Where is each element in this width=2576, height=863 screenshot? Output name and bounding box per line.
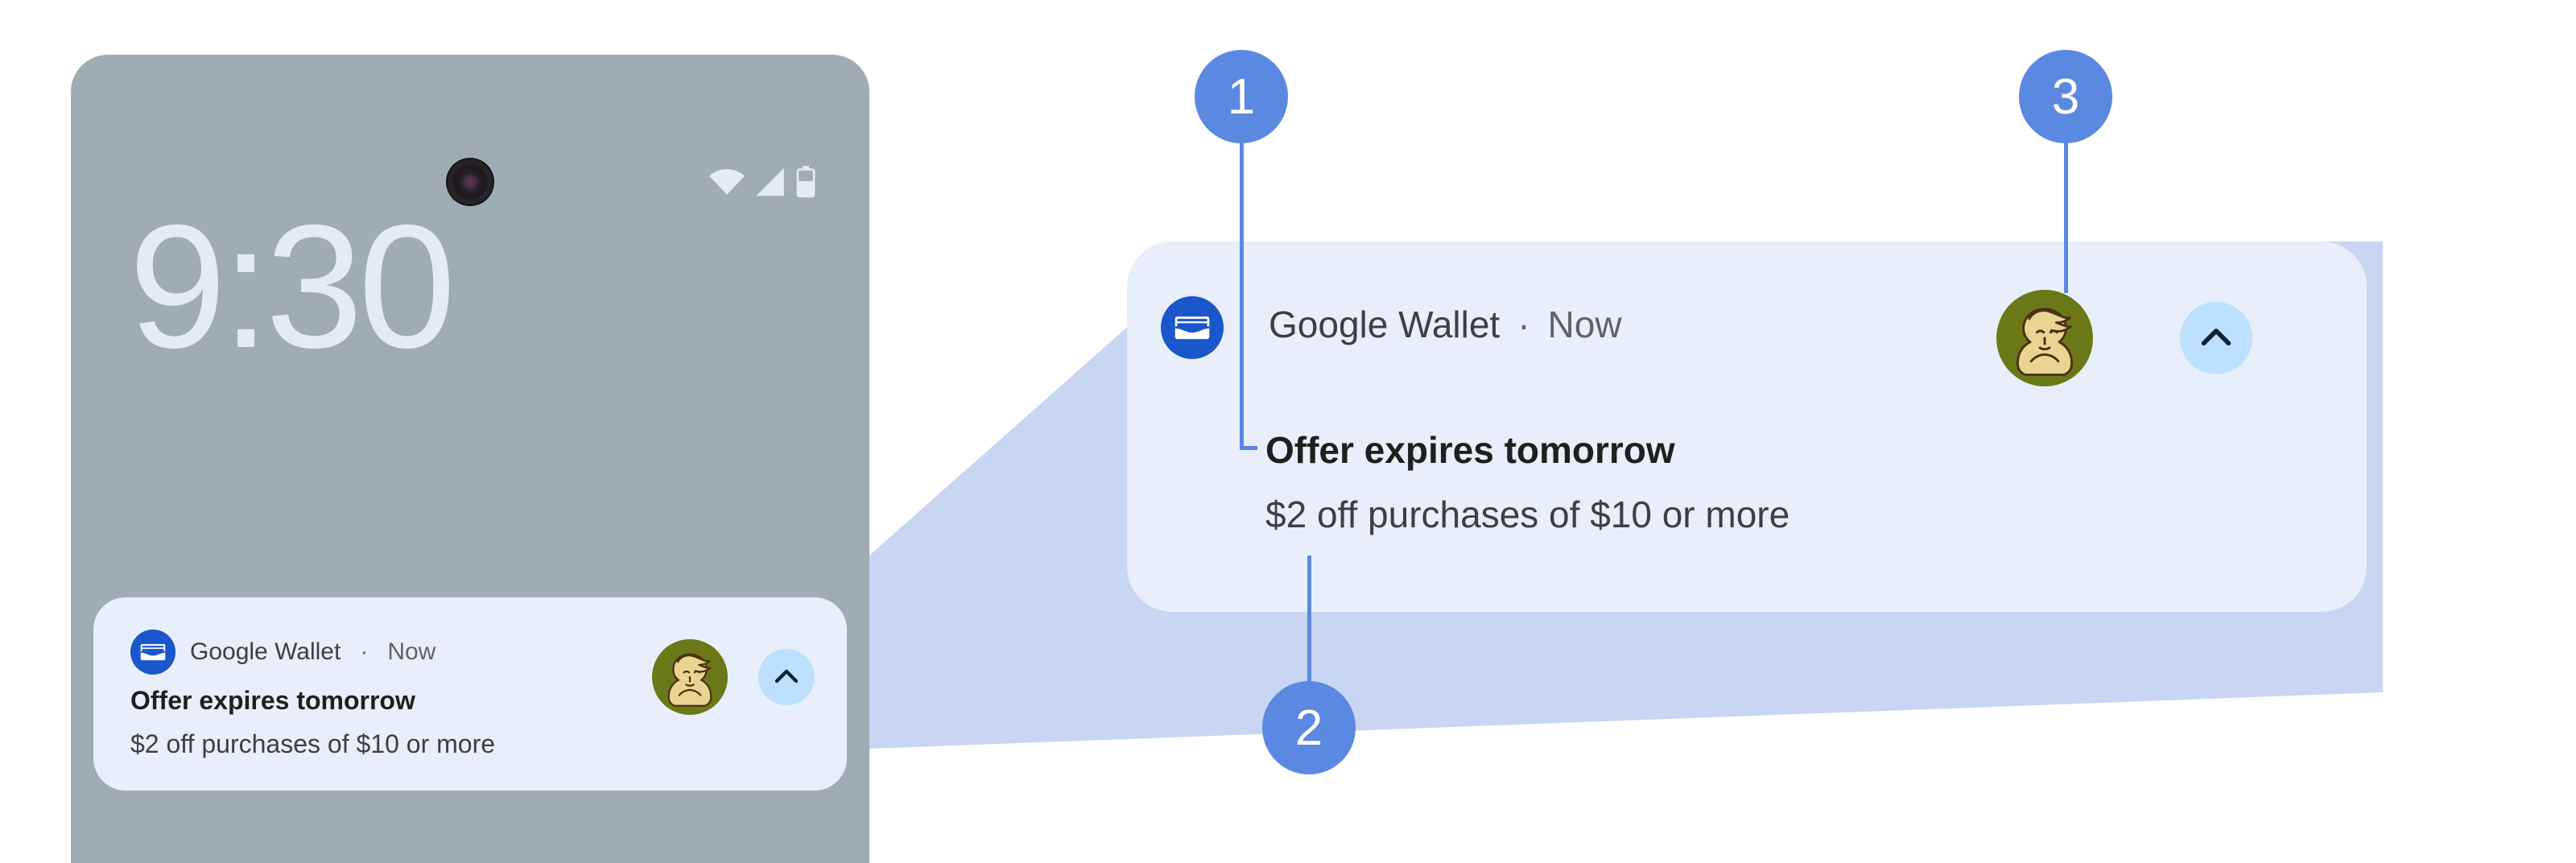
notification-header: Google Wallet · Now xyxy=(1269,303,1622,346)
notification-title: Offer expires tomorrow xyxy=(1265,428,1675,472)
screenshot-canvas: 9:30 Google Wallet · Now Offer expires t… xyxy=(0,0,2576,863)
phone-mockup: 9:30 Google Wallet · Now Offer expires t… xyxy=(71,55,869,863)
notification-timestamp: Now xyxy=(1548,303,1622,346)
front-camera-icon xyxy=(448,159,493,204)
notification-separator: · xyxy=(355,638,373,666)
callout-badge-1: 1 xyxy=(1195,50,1288,143)
status-icon-group xyxy=(708,166,816,198)
magnified-notification-card[interactable]: Google Wallet · Now Offer expires tomorr… xyxy=(1127,242,2367,612)
lock-screen-clock: 9:30 xyxy=(129,200,451,375)
cellular-signal-icon xyxy=(753,167,787,197)
expand-notification-button[interactable] xyxy=(758,649,815,705)
merchant-avatar xyxy=(1996,290,2093,386)
notification-separator: · xyxy=(1503,303,1544,346)
lockscreen-notification-card[interactable]: Google Wallet · Now Offer expires tomorr… xyxy=(93,597,847,791)
phone-status-bar xyxy=(71,55,869,175)
notification-body: $2 off purchases of $10 or more xyxy=(130,729,495,759)
callout-badge-2: 2 xyxy=(1262,681,1356,774)
notification-title: Offer expires tomorrow xyxy=(130,686,415,716)
notification-app-name: Google Wallet xyxy=(1269,303,1500,346)
callout-1-leader-tick xyxy=(1240,446,1257,450)
expand-notification-button[interactable] xyxy=(2180,302,2252,374)
google-wallet-icon xyxy=(130,630,175,675)
notification-timestamp: Now xyxy=(387,638,436,666)
notification-app-name: Google Wallet xyxy=(190,638,341,666)
wifi-icon xyxy=(708,167,745,196)
callout-2-leader-line xyxy=(1307,555,1311,683)
callout-3-leader-line xyxy=(2064,143,2068,293)
callout-1-leader-line xyxy=(1240,143,1244,449)
callout-badge-3: 3 xyxy=(2019,50,2112,143)
battery-icon xyxy=(795,166,816,198)
notification-body: $2 off purchases of $10 or more xyxy=(1265,493,1790,536)
merchant-avatar xyxy=(652,639,728,715)
notification-header: Google Wallet · Now xyxy=(130,630,436,675)
google-wallet-icon xyxy=(1161,296,1224,359)
